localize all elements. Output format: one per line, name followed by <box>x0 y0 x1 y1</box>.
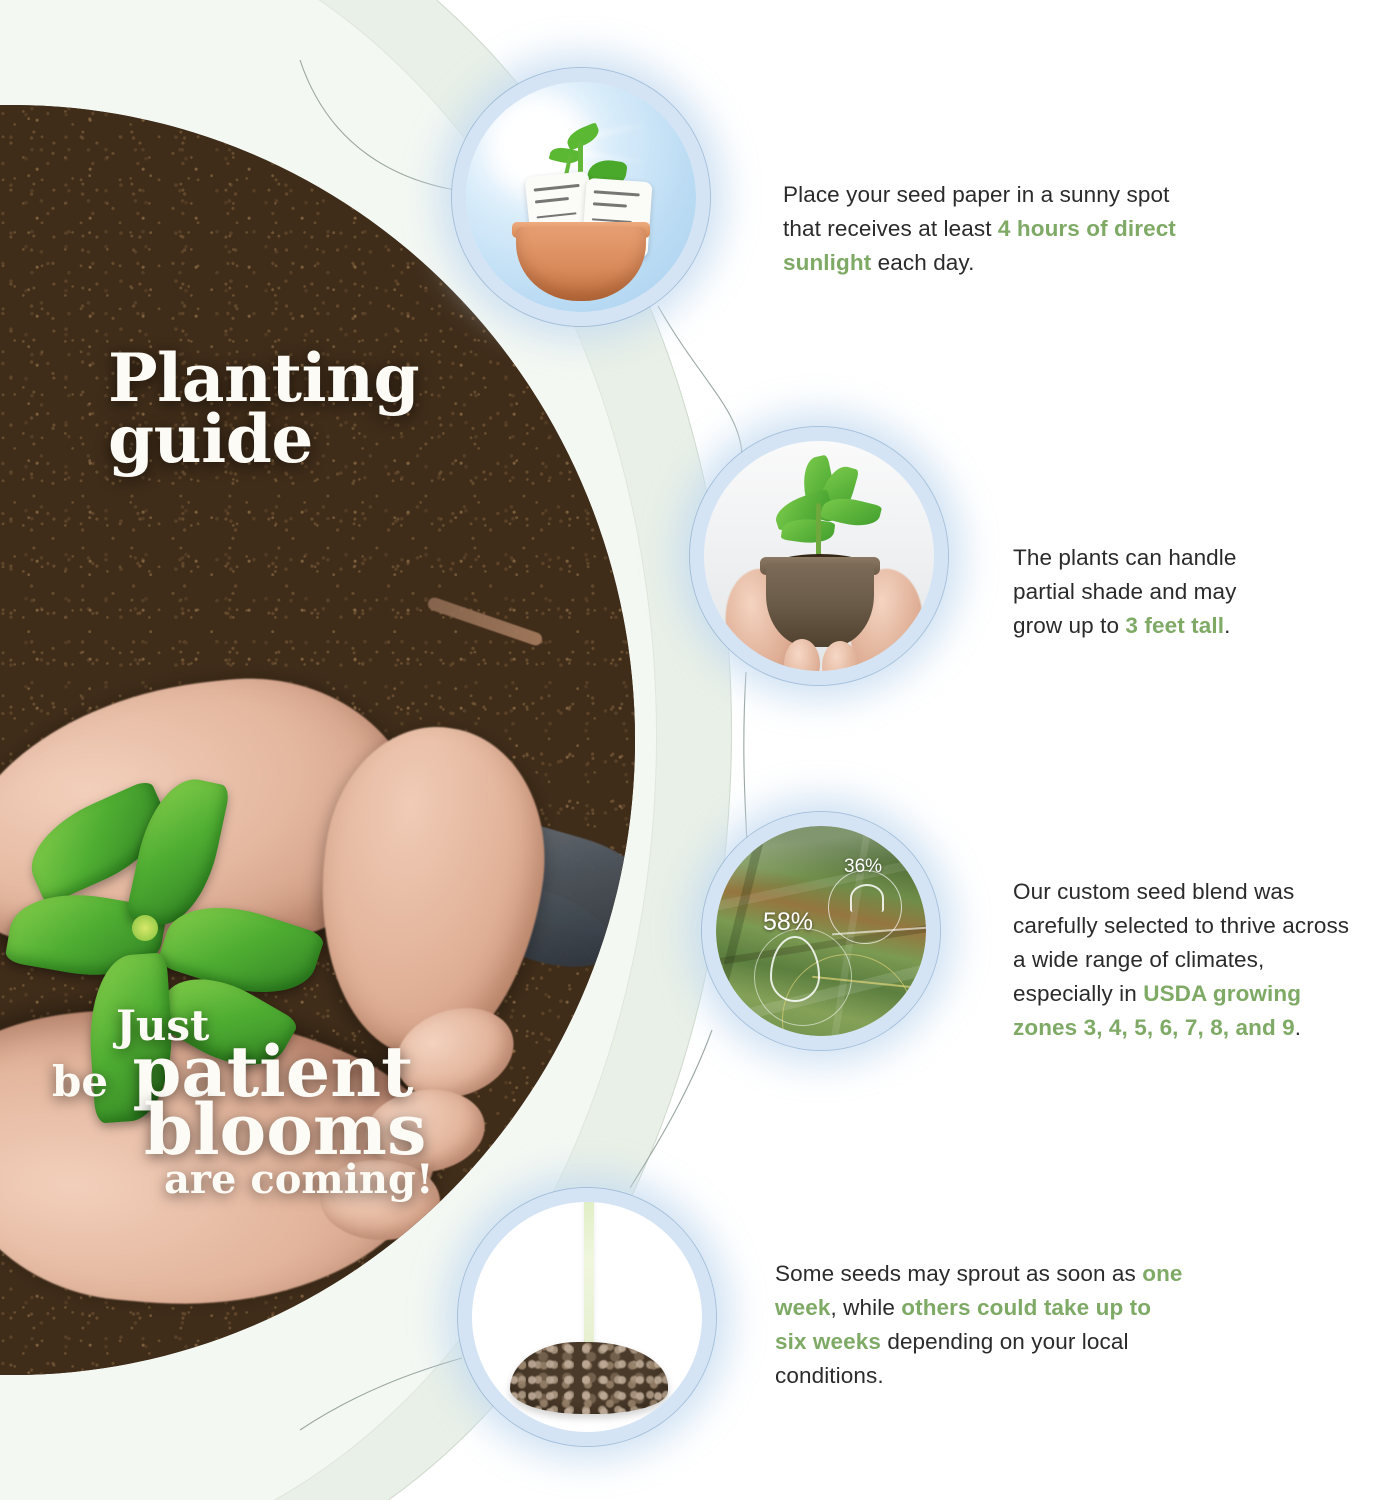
step-image-shade-height-inner <box>704 441 934 671</box>
tagline: Just be patient blooms are coming! <box>52 1008 434 1197</box>
tagline-row-are-coming: are coming! <box>164 1162 434 1197</box>
step-image-sunlight-inner <box>466 82 696 312</box>
clay-pot <box>766 563 874 647</box>
step-image-germination-time-inner <box>472 1202 702 1432</box>
step-image-climate-zones: 36% 58% <box>702 812 940 1050</box>
step-image-shade-height <box>690 427 948 685</box>
copy-text: each day. <box>871 250 974 275</box>
sprout-stem <box>584 1202 594 1356</box>
step-copy-germination-time: Some seeds may sprout as soon as one wee… <box>775 1257 1185 1394</box>
step-image-sunlight <box>452 68 710 326</box>
step-copy-sunlight: Place your seed paper in a sunny spot th… <box>783 178 1183 281</box>
copy-text: . <box>1224 613 1230 638</box>
step-image-climate-zones-inner: 36% 58% <box>716 826 926 1036</box>
soil-mound <box>510 1342 668 1414</box>
hud-value-moisture: 58% <box>763 908 813 937</box>
step-copy-climate-zones: Our custom seed blend was carefully sele… <box>1013 875 1365 1046</box>
tagline-row-blooms: blooms <box>144 1099 434 1161</box>
seedling-center <box>132 915 158 941</box>
terracotta-pot <box>516 227 646 301</box>
hud-value-growth: 36% <box>844 856 882 878</box>
page-title-line-2: guide <box>108 409 419 470</box>
copy-highlight: 3 feet tall <box>1125 613 1224 638</box>
planting-guide-poster: Planting guide Just be patient blooms ar… <box>0 0 1373 1500</box>
step-copy-shade-height: The plants can handle partial shade and … <box>1013 541 1281 644</box>
copy-text: , while <box>830 1295 901 1320</box>
tagline-word-be: be <box>52 1057 108 1106</box>
copy-text: . <box>1295 1015 1301 1040</box>
sprout-icon <box>850 884 884 912</box>
copy-text: Some seeds may sprout as soon as <box>775 1261 1142 1286</box>
step-image-germination-time <box>458 1188 716 1446</box>
page-title: Planting guide <box>108 348 419 471</box>
